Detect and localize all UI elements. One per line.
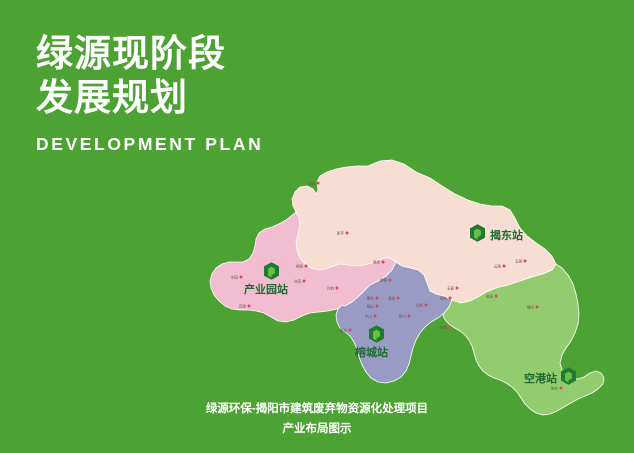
town-dot <box>425 304 428 307</box>
town-dot <box>305 265 308 268</box>
town-label: 云路 <box>494 263 502 268</box>
town-label: 渔湖 <box>388 295 396 300</box>
town-label: 白塔 <box>294 278 302 283</box>
station-label-rongcheng: 榕城站 <box>355 345 388 359</box>
town-dot <box>374 315 377 318</box>
town-label: 梅云 <box>367 303 375 308</box>
town-label: 榕东 <box>340 327 348 332</box>
town-label: 玉湖 <box>515 258 523 263</box>
town-dot <box>376 297 379 300</box>
town-dot <box>389 279 392 282</box>
town-dot <box>240 276 243 279</box>
station-label-jiedong: 揭东站 <box>490 228 523 242</box>
town-label: 磐东 <box>367 295 375 300</box>
town-dot <box>376 305 379 308</box>
town-dot <box>346 232 349 235</box>
town-label: 地都 <box>440 324 448 329</box>
poster-root: 五经新亨锡场棉湖白塔东园月城凤湖玉湖云路玉窖曲溪炮台登岗地都霖磐磐东渔湖梅云仙桥… <box>0 0 634 453</box>
town-dot <box>495 295 498 298</box>
station-label-konggang: 空港站 <box>524 371 557 385</box>
town-label: 登岗 <box>527 304 535 309</box>
station-label-chanyeyuan: 产业园站 <box>244 282 288 296</box>
town-label: 新亨 <box>337 230 345 235</box>
town-dot <box>449 326 452 329</box>
town-label: 新兴 <box>399 313 407 318</box>
town-dot <box>408 315 411 318</box>
town-dot <box>560 387 563 390</box>
subtitle-development-plan: DEVELOPMENT PLAN <box>36 134 376 155</box>
town-label: 东园 <box>231 274 239 279</box>
caption-line-2: 产业布局图示 <box>0 419 634 439</box>
caption-line-1: 绿源环保-揭阳市建筑废弃物资源化处理项目 <box>0 399 634 419</box>
title-line-1: 绿源现阶段 <box>36 32 376 76</box>
town-label: 月城 <box>327 285 335 290</box>
town-dot <box>336 287 339 290</box>
caption-block: 绿源环保-揭阳市建筑废弃物资源化处理项目 产业布局图示 <box>0 399 634 439</box>
town-dot <box>449 297 452 300</box>
town-label: 砲台 <box>551 385 559 390</box>
town-dot <box>397 297 400 300</box>
title-line-2: 发展规划 <box>36 76 376 120</box>
town-label: 霖磐 <box>380 277 388 282</box>
town-label: 仙桥 <box>416 302 424 307</box>
town-dot <box>456 287 459 290</box>
town-dot <box>524 260 527 263</box>
town-dot <box>382 261 385 264</box>
town-label: 曲溪 <box>486 293 494 298</box>
town-dot <box>536 306 539 309</box>
town-label: 锡场 <box>373 259 381 264</box>
town-label: 凤湖 <box>239 303 247 308</box>
town-label: 玉窖 <box>447 285 455 290</box>
town-label: 五经 <box>308 180 316 185</box>
town-label: 中山 <box>365 313 373 318</box>
town-dot <box>303 280 306 283</box>
town-dot <box>248 305 251 308</box>
town-dot <box>503 265 506 268</box>
town-label: 炮台 <box>440 295 448 300</box>
heading-block: 绿源现阶段 发展规划 DEVELOPMENT PLAN <box>36 32 376 155</box>
town-dot <box>317 182 320 185</box>
town-label: 棉湖 <box>296 263 304 268</box>
town-dot <box>349 329 352 332</box>
